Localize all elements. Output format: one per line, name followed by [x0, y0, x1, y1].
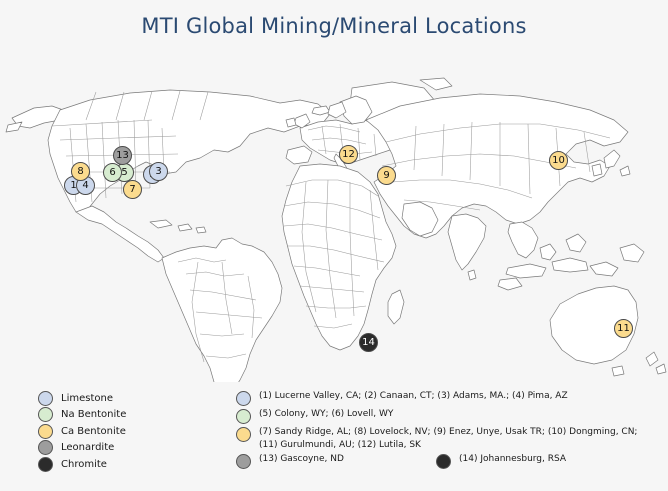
map-marker-10[interactable]: 10	[549, 151, 568, 170]
material-legend-row-na-bentonite: Na Bentonite	[38, 407, 126, 424]
map-marker-label: 8	[77, 166, 83, 177]
map-marker-3[interactable]: 3	[149, 162, 168, 181]
chromite-legend-group: (14) Johannesburg, RSA	[436, 453, 566, 469]
slide-root: MTI Global Mining/Mineral Locations	[0, 0, 668, 491]
leonardite-locations-text: (13) Gascoyne, ND	[259, 454, 344, 464]
material-legend-label: Limestone	[61, 393, 113, 404]
world-map-graphic	[0, 62, 668, 382]
material-legend-row-chromite: Chromite	[38, 456, 126, 473]
map-marker-12[interactable]: 12	[339, 145, 358, 164]
map-marker-9[interactable]: 9	[377, 166, 396, 185]
page-title: MTI Global Mining/Mineral Locations	[0, 14, 668, 38]
location-legend-row-limestone: (1) Lucerne Valley, CA; (2) Canaan, CT; …	[236, 390, 656, 406]
map-marker-14[interactable]: 14	[359, 333, 378, 352]
chromite-locations-text: (14) Johannesburg, RSA	[459, 454, 566, 464]
map-marker-label: 5	[121, 167, 127, 178]
map-marker-label: 3	[155, 166, 161, 177]
map-marker-label: 9	[383, 170, 389, 181]
na-bentonite-swatch-icon	[38, 407, 53, 422]
map-marker-6[interactable]: 6	[103, 163, 122, 182]
location-legend-row-bottom: (13) Gascoyne, ND (14) Johannesburg, RSA	[236, 453, 656, 469]
map-marker-7[interactable]: 7	[123, 180, 142, 199]
map-marker-label: 4	[82, 180, 88, 191]
map-marker-label: 11	[617, 323, 630, 334]
map-marker-label: 7	[129, 184, 135, 195]
material-legend-label: Leonardite	[61, 442, 114, 453]
map-marker-label: 13	[116, 150, 129, 161]
na-bentonite-swatch-icon	[236, 409, 251, 424]
leonardite-swatch-icon	[38, 440, 53, 455]
ca-bentonite-locations-text-line1: (7) Sandy Ridge, AL; (8) Lovelock, NV; (…	[259, 427, 637, 437]
map-marker-label: 6	[109, 167, 115, 178]
material-legend-label: Ca Bentonite	[61, 426, 126, 437]
material-legend: LimestoneNa BentoniteCa BentoniteLeonard…	[38, 390, 126, 473]
map-marker-label: 10	[552, 155, 565, 166]
limestone-swatch-icon	[38, 391, 53, 406]
ca-bentonite-swatch-icon	[236, 427, 251, 442]
na-bentonite-locations-text: (5) Colony, WY; (6) Lovell, WY	[259, 409, 393, 419]
location-legend: (1) Lucerne Valley, CA; (2) Canaan, CT; …	[236, 390, 656, 471]
map-marker-label: 12	[342, 149, 355, 160]
material-legend-label: Chromite	[61, 459, 107, 470]
ca-bentonite-locations-text-line2: (11) Gurulmundi, AU; (12) Lutila, SK	[259, 440, 421, 450]
chromite-swatch-icon	[436, 454, 451, 469]
leonardite-swatch-icon	[236, 454, 251, 469]
chromite-swatch-icon	[38, 457, 53, 472]
map-marker-label: 14	[362, 337, 375, 348]
world-map-container: 1234567891011121314	[0, 62, 668, 382]
map-marker-13[interactable]: 13	[113, 146, 132, 165]
location-legend-row-na-bentonite: (5) Colony, WY; (6) Lovell, WY	[236, 408, 656, 424]
material-legend-row-limestone: Limestone	[38, 390, 126, 407]
location-legend-row-ca-bentonite: (7) Sandy Ridge, AL; (8) Lovelock, NV; (…	[236, 426, 656, 451]
map-marker-8[interactable]: 8	[71, 162, 90, 181]
limestone-locations-text: (1) Lucerne Valley, CA; (2) Canaan, CT; …	[259, 391, 568, 401]
ca-bentonite-swatch-icon	[38, 424, 53, 439]
material-legend-label: Na Bentonite	[61, 409, 126, 420]
limestone-swatch-icon	[236, 391, 251, 406]
material-legend-row-leonardite: Leonardite	[38, 440, 126, 457]
map-marker-11[interactable]: 11	[614, 319, 633, 338]
material-legend-row-ca-bentonite: Ca Bentonite	[38, 423, 126, 440]
